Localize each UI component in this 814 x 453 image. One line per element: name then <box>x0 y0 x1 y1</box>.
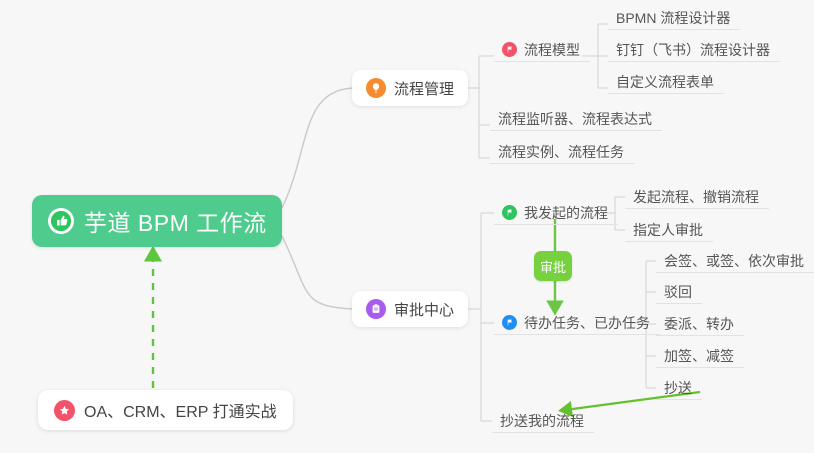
root-label: 芋道 BPM 工作流 <box>84 204 267 238</box>
flag-icon <box>502 205 517 220</box>
note-node-integration[interactable]: OA、CRM、ERP 打通实战 <box>38 390 293 430</box>
branch-label: 流程管理 <box>394 78 454 99</box>
node-label: BPMN 流程设计器 <box>616 11 730 25</box>
node-label: 抄送我的流程 <box>500 414 584 428</box>
node-dingtalk-designer[interactable]: 钉钉（飞书）流程设计器 <box>608 36 780 62</box>
branch-node-approval-center[interactable]: 审批中心 <box>352 291 468 327</box>
flag-icon <box>502 42 517 57</box>
clipboard-icon <box>366 299 386 319</box>
node-countersign[interactable]: 会签、或签、依次审批 <box>656 247 814 273</box>
node-label: 抄送 <box>664 381 692 395</box>
node-delegate-transfer[interactable]: 委派、转办 <box>656 310 744 336</box>
node-label: 我发起的流程 <box>524 206 608 220</box>
node-label: 驳回 <box>664 285 692 299</box>
node-process-instance[interactable]: 流程实例、流程任务 <box>490 138 634 164</box>
node-label: 流程监听器、流程表达式 <box>498 112 652 126</box>
node-label: 发起流程、撤销流程 <box>633 190 759 204</box>
node-label: 待办任务、已办任务 <box>524 316 650 330</box>
node-reject[interactable]: 驳回 <box>656 278 702 304</box>
connector-root-to-process <box>282 88 352 208</box>
node-process-listener[interactable]: 流程监听器、流程表达式 <box>490 105 662 131</box>
node-cc[interactable]: 抄送 <box>656 374 702 400</box>
node-todo-done-tasks[interactable]: 待办任务、已办任务 <box>494 309 660 335</box>
node-add-remove-sign[interactable]: 加签、减签 <box>656 342 744 368</box>
mindmap-canvas: 芋道 BPM 工作流 流程管理 流程模型 BPMN 流程设计器 钉钉（飞书）流程… <box>0 0 814 453</box>
node-start-cancel-process[interactable]: 发起流程、撤销流程 <box>625 183 769 209</box>
node-my-started-processes[interactable]: 我发起的流程 <box>494 199 618 225</box>
node-assignee-approval[interactable]: 指定人审批 <box>625 216 713 242</box>
root-node[interactable]: 芋道 BPM 工作流 <box>32 195 282 247</box>
node-cc-to-me[interactable]: 抄送我的流程 <box>492 407 594 433</box>
node-custom-form[interactable]: 自定义流程表单 <box>608 68 724 94</box>
node-label: 会签、或签、依次审批 <box>664 254 804 268</box>
node-label: 自定义流程表单 <box>616 75 714 89</box>
node-label: 指定人审批 <box>633 223 703 237</box>
star-icon <box>54 400 75 421</box>
node-label: 钉钉（飞书）流程设计器 <box>616 43 770 57</box>
note-label: OA、CRM、ERP 打通实战 <box>84 398 277 422</box>
node-bpmn-designer[interactable]: BPMN 流程设计器 <box>608 4 740 30</box>
node-label: 流程实例、流程任务 <box>498 145 624 159</box>
node-label: 委派、转办 <box>664 317 734 331</box>
lightbulb-icon <box>366 78 386 98</box>
branch-label: 审批中心 <box>394 299 454 320</box>
node-label: 流程模型 <box>524 43 580 57</box>
thumbs-up-icon <box>48 208 74 234</box>
node-process-model[interactable]: 流程模型 <box>494 36 590 62</box>
approval-badge: 审批 <box>534 251 572 281</box>
flag-icon <box>502 315 517 330</box>
node-label: 加签、减签 <box>664 349 734 363</box>
connector-root-to-approval <box>282 236 352 309</box>
branch-node-process-management[interactable]: 流程管理 <box>352 70 468 106</box>
approval-badge-label: 审批 <box>540 257 566 276</box>
